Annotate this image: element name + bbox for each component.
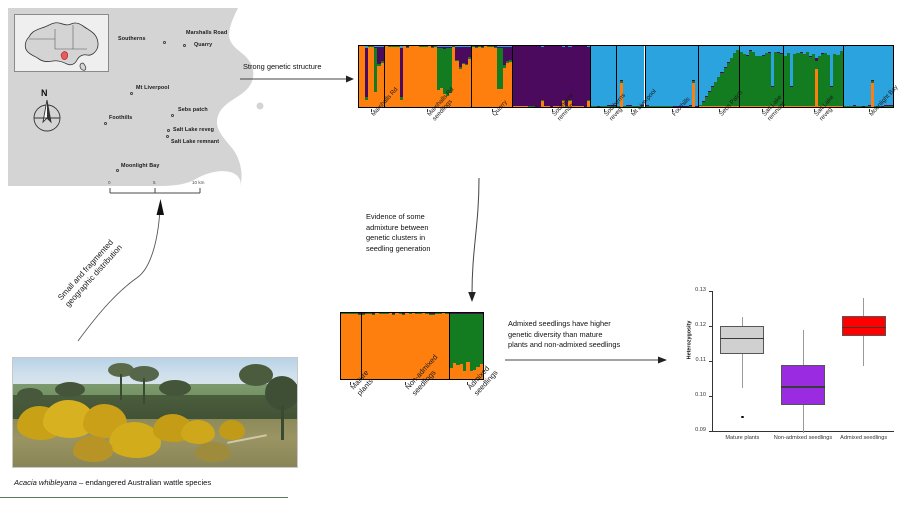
eucalypt-trunk: [143, 378, 145, 404]
boxplot-median-line: [720, 338, 764, 339]
eucalypt-canopy: [265, 376, 298, 410]
structure-population-group: [472, 46, 513, 107]
boxplot-median-line: [842, 327, 886, 328]
map-site-label: Salt Lake reveg: [173, 127, 214, 133]
structure-cluster-segment: [613, 46, 616, 105]
caption-text: – endangered Australian wattle species: [77, 478, 211, 487]
map-site-marker: [130, 92, 133, 95]
boxplot-x-tick-label: Mature plants: [712, 435, 773, 441]
wattle-shrub: [73, 436, 113, 462]
boxplot-y-tick-label: 0.10: [684, 392, 706, 398]
structure-axis-tick: [492, 109, 493, 112]
eucalypt-canopy: [55, 382, 85, 397]
boxplot-y-tick-mark: [709, 431, 712, 432]
structure-axis-tick: [631, 109, 632, 112]
boxplot-y-axis: [712, 291, 713, 431]
heterozygosity-boxplot: Heterozygosity 0.090.100.110.120.13 Matu…: [672, 285, 896, 445]
boxplot-box: [720, 326, 764, 354]
structure-axis-tick: [405, 382, 406, 385]
map-site-marker: [116, 169, 119, 172]
structure-cluster-segment: [509, 47, 512, 60]
structure-axis-tick: [672, 109, 673, 112]
map-site-label: Sebs patch: [178, 107, 208, 113]
species-name: Acacia whibleyana: [14, 478, 77, 487]
boxplot-y-tick-mark: [709, 291, 712, 292]
structure-cluster-segment: [468, 47, 471, 57]
map-scalebar: 0 5 10 km: [108, 180, 208, 196]
compass-rose-icon: N: [26, 92, 68, 134]
boxplot-outlier-point: [741, 416, 744, 419]
map-site-marker: [104, 122, 107, 125]
annotation-admixture-evidence: Evidence of some admixture between genet…: [366, 212, 431, 254]
boxplot-median-line: [781, 386, 825, 387]
structure-cluster-segment: [695, 46, 698, 106]
structure-cluster-segment: [445, 314, 448, 379]
arrow-map-to-structure: [238, 74, 360, 88]
structure-cluster-segment: [780, 46, 783, 53]
boxplot-box: [781, 365, 825, 405]
structure-population-group: [359, 46, 385, 107]
study-site-map: N 0 5 10 km SouthernsMarshalls RoadQuarr…: [8, 8, 289, 186]
structure-cluster-segment: [840, 106, 843, 107]
map-site-label: Quarry: [194, 42, 212, 48]
map-site-marker: [167, 129, 170, 132]
scalebar-tick-0: 0: [108, 180, 111, 185]
map-site-marker: [171, 114, 174, 117]
structure-cluster-segment: [381, 47, 384, 61]
eucalypt-canopy: [17, 388, 43, 402]
eucalypt-canopy: [159, 380, 191, 396]
wattle-shrub: [219, 420, 245, 440]
structure-individual-bar: [840, 46, 843, 107]
wattle-shrub: [195, 442, 231, 462]
boxplot-y-tick-mark: [709, 396, 712, 397]
caption-divider: [0, 497, 288, 498]
structure-axis-tick: [552, 109, 553, 112]
boxplot-y-tick-mark: [709, 361, 712, 362]
structure-axis-tick: [762, 109, 763, 112]
structure-individual-bar: [445, 313, 448, 379]
arrow-seedlings-to-boxplot: [503, 355, 673, 369]
structure-population-group: [513, 46, 591, 107]
species-photo: [12, 357, 298, 468]
map-site-label: Marshalls Road: [186, 30, 227, 36]
arrow-structure-to-seedlings: [462, 176, 488, 306]
structure-cluster-segment: [736, 106, 739, 107]
scalebar-tick-5: 5: [153, 180, 156, 185]
map-site-marker: [183, 44, 186, 47]
map-site-label: Moonlight Bay: [121, 163, 159, 169]
structure-axis-tick: [719, 109, 720, 112]
structure-cluster-segment: [480, 314, 483, 364]
scalebar-tick-10: 10 km: [192, 180, 205, 185]
structure-axis-tick: [371, 109, 372, 112]
structure-cluster-segment: [587, 101, 590, 107]
map-site-marker: [166, 135, 169, 138]
australia-inset-map: [14, 14, 109, 72]
structure-axis-tick: [467, 382, 468, 385]
map-site-marker: [163, 41, 166, 44]
boxplot-x-tick-label: Admixed seedlings: [833, 435, 894, 441]
structure-cluster-segment: [509, 62, 512, 107]
structure-individual-bar: [468, 46, 471, 107]
compass-north-label: N: [41, 88, 48, 98]
structure-population-group: [646, 46, 699, 107]
eucalypt-trunk: [281, 406, 284, 440]
boxplot-y-tick-label: 0.12: [684, 322, 706, 328]
map-site-label: Southerns: [118, 36, 146, 42]
annotation-strong-genetic-structure: Strong genetic structure: [243, 62, 321, 73]
structure-axis-tick: [604, 109, 605, 112]
structure-cluster-segment: [587, 47, 590, 101]
structure-axis-tick: [350, 382, 351, 385]
structure-population-group: [341, 313, 362, 379]
australia-outline-icon: [15, 15, 110, 73]
structure-axis-tick: [814, 109, 815, 112]
eucalypt-trunk: [120, 374, 122, 400]
boxplot-y-tick-mark: [709, 326, 712, 327]
annotation-admixed-higher-diversity: Admixed seedlings have higher genetic di…: [508, 319, 620, 351]
structure-population-group: [591, 46, 617, 107]
boxplot-x-tick-label: Non-admixed seedlings: [773, 435, 834, 441]
map-site-label: Foothills: [109, 115, 132, 121]
structure-individual-bar: [587, 46, 590, 107]
structure-cluster-segment: [840, 51, 843, 106]
map-site-label: Mt Liverpool: [136, 85, 169, 91]
annotation-fragmented-distribution: Small and fragmented geographic distribu…: [56, 296, 137, 315]
structure-axis-tick: [869, 109, 870, 112]
structure-cluster-segment: [468, 59, 471, 107]
boxplot-y-tick-label: 0.09: [684, 427, 706, 433]
structure-axis-tick: [427, 109, 428, 112]
map-site-label: Salt Lake remnant: [171, 139, 219, 145]
boxplot-y-tick-label: 0.13: [684, 287, 706, 293]
structure-individual-bar: [509, 46, 512, 107]
structure-cluster-segment: [358, 315, 361, 379]
boxplot-y-tick-label: 0.11: [684, 357, 706, 363]
structure-individual-bar: [695, 46, 698, 107]
structure-individual-bar: [358, 313, 361, 379]
wattle-shrub: [181, 420, 215, 444]
photo-caption: Acacia whibleyana – endangered Australia…: [14, 478, 414, 487]
